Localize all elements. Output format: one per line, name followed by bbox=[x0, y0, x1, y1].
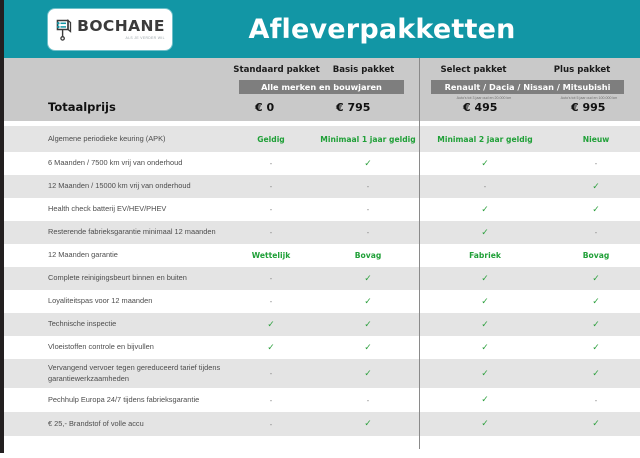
cell-plus: - bbox=[595, 228, 598, 237]
cell-plus: ✓ bbox=[592, 419, 600, 429]
row-label: Complete reinigingsbeurt binnen en buite… bbox=[48, 273, 187, 284]
cell-basis: ✓ bbox=[364, 274, 372, 284]
table-row: Loyaliteitspas voor 12 maanden - ✓ ✓ ✓ bbox=[4, 290, 640, 313]
cell-standaard: - bbox=[270, 182, 273, 191]
package-note: Auto's tot 5 jaar oud en 100.000 km bbox=[539, 96, 639, 100]
cell-basis: - bbox=[367, 228, 370, 237]
package-price: € 0 bbox=[255, 101, 274, 114]
cell-standaard: - bbox=[270, 274, 273, 283]
comparison-table-page: BOCHANE ALS JE VERDER WIL Afleverpakkett… bbox=[0, 0, 640, 453]
cell-basis: - bbox=[367, 205, 370, 214]
table-row: Resterende fabrieksgarantie minimaal 12 … bbox=[4, 221, 640, 244]
package-name: Standaard pakket bbox=[233, 65, 319, 75]
cell-select: ✓ bbox=[481, 297, 489, 307]
cell-standaard: ✓ bbox=[267, 343, 275, 353]
package-price: € 495 bbox=[463, 101, 497, 114]
cell-basis: ✓ bbox=[364, 369, 372, 379]
cell-plus: ✓ bbox=[592, 297, 600, 307]
cell-basis: - bbox=[367, 182, 370, 191]
cell-standaard: - bbox=[270, 228, 273, 237]
cell-basis: Bovag bbox=[355, 251, 382, 260]
package-price: € 995 bbox=[571, 101, 605, 114]
cell-select: ✓ bbox=[481, 343, 489, 353]
cell-basis: ✓ bbox=[364, 159, 372, 169]
table-row: Vervangend vervoer tegen gereduceerd tar… bbox=[4, 359, 640, 388]
row-label: Vervangend vervoer tegen gereduceerd tar… bbox=[48, 363, 233, 384]
cell-select: ✓ bbox=[481, 320, 489, 330]
cell-select: ✓ bbox=[481, 369, 489, 379]
cell-basis: ✓ bbox=[364, 297, 372, 307]
table-row: Technische inspectie ✓ ✓ ✓ ✓ bbox=[4, 313, 640, 336]
cell-plus: ✓ bbox=[592, 182, 600, 192]
table-row: 6 Maanden / 7500 km vrij van onderhoud -… bbox=[4, 152, 640, 175]
page-header: BOCHANE ALS JE VERDER WIL Afleverpakkett… bbox=[4, 0, 640, 58]
cell-select: ✓ bbox=[481, 274, 489, 284]
table-row: Health check batterij EV/HEV/PHEV - - ✓ … bbox=[4, 198, 640, 221]
row-label: Pechhulp Europa 24/7 tijdens fabrieksgar… bbox=[48, 395, 199, 406]
table-row: 12 Maanden / 15000 km vrij van onderhoud… bbox=[4, 175, 640, 198]
cell-select: ✓ bbox=[481, 395, 489, 405]
row-label: Health check batterij EV/HEV/PHEV bbox=[48, 204, 166, 215]
cell-select: ✓ bbox=[481, 159, 489, 169]
cell-plus: ✓ bbox=[592, 320, 600, 330]
cell-select: - bbox=[484, 182, 487, 191]
row-label: 12 Maanden / 15000 km vrij van onderhoud bbox=[48, 181, 191, 192]
row-label: 6 Maanden / 7500 km vrij van onderhoud bbox=[48, 158, 182, 169]
package-name: Select pakket bbox=[440, 65, 506, 75]
cell-standaard: - bbox=[270, 205, 273, 214]
cell-select: Minimaal 2 jaar geldig bbox=[437, 135, 532, 144]
cell-plus: - bbox=[595, 159, 598, 168]
group-divider bbox=[419, 58, 420, 449]
package-price: € 795 bbox=[336, 101, 370, 114]
cell-standaard: - bbox=[270, 420, 273, 429]
cell-plus: Bovag bbox=[583, 251, 610, 260]
row-label: Loyaliteitspas voor 12 maanden bbox=[48, 296, 152, 307]
cell-select: ✓ bbox=[481, 419, 489, 429]
cell-standaard: - bbox=[270, 297, 273, 306]
table-row: Pechhulp Europa 24/7 tijdens fabrieksgar… bbox=[4, 388, 640, 412]
cell-basis: ✓ bbox=[364, 343, 372, 353]
group-band-renault: Renault / Dacia / Nissan / Mitsubishi bbox=[431, 80, 624, 94]
row-label: 12 Maanden garantie bbox=[48, 250, 118, 261]
table-row: Vloeistoffen controle en bijvullen ✓ ✓ ✓… bbox=[4, 336, 640, 359]
table-row: Algemene periodieke keuring (APK) Geldig… bbox=[4, 126, 640, 152]
cell-standaard: - bbox=[270, 396, 273, 405]
table-row: 12 Maanden garantie Wettelijk Bovag Fabr… bbox=[4, 244, 640, 267]
cell-basis: ✓ bbox=[364, 320, 372, 330]
package-note: Auto's tot 3 jaar oud en 20.000 km bbox=[434, 96, 534, 100]
cell-standaard: Wettelijk bbox=[252, 251, 291, 260]
cell-select: ✓ bbox=[481, 228, 489, 238]
cell-select: Fabriek bbox=[469, 251, 501, 260]
cell-plus: ✓ bbox=[592, 343, 600, 353]
row-label: € 25,- Brandstof of volle accu bbox=[48, 419, 144, 430]
row-label: Technische inspectie bbox=[48, 319, 116, 330]
cell-basis: ✓ bbox=[364, 419, 372, 429]
cell-plus: ✓ bbox=[592, 274, 600, 284]
feature-rows: Algemene periodieke keuring (APK) Geldig… bbox=[4, 126, 640, 458]
package-name: Plus pakket bbox=[554, 65, 611, 75]
cell-plus: Nieuw bbox=[583, 135, 610, 144]
cell-standaard: Geldig bbox=[257, 135, 284, 144]
cell-standaard: ✓ bbox=[267, 320, 275, 330]
cell-plus: ✓ bbox=[592, 369, 600, 379]
table-row: Complete reinigingsbeurt binnen en buite… bbox=[4, 267, 640, 290]
table-row: € 25,- Brandstof of volle accu - ✓ ✓ ✓ bbox=[4, 412, 640, 436]
package-header: Totaalprijs Standaard pakket Basis pakke… bbox=[4, 58, 640, 121]
cell-select: ✓ bbox=[481, 205, 489, 215]
cell-plus: - bbox=[595, 396, 598, 405]
cell-plus: ✓ bbox=[592, 205, 600, 215]
row-label: Resterende fabrieksgarantie minimaal 12 … bbox=[48, 227, 216, 238]
total-price-label: Totaalprijs bbox=[48, 100, 116, 114]
cell-basis: Minimaal 1 jaar geldig bbox=[320, 135, 415, 144]
package-name: Basis pakket bbox=[333, 65, 395, 75]
row-label: Algemene periodieke keuring (APK) bbox=[48, 134, 166, 145]
group-band-alle-merken: Alle merken en bouwjaren bbox=[239, 80, 404, 94]
table-footer-spacer bbox=[4, 436, 640, 458]
cell-standaard: - bbox=[270, 369, 273, 378]
cell-standaard: - bbox=[270, 159, 273, 168]
page-title: Afleverpakketten bbox=[4, 0, 640, 58]
cell-basis: - bbox=[367, 396, 370, 405]
row-label: Vloeistoffen controle en bijvullen bbox=[48, 342, 154, 353]
